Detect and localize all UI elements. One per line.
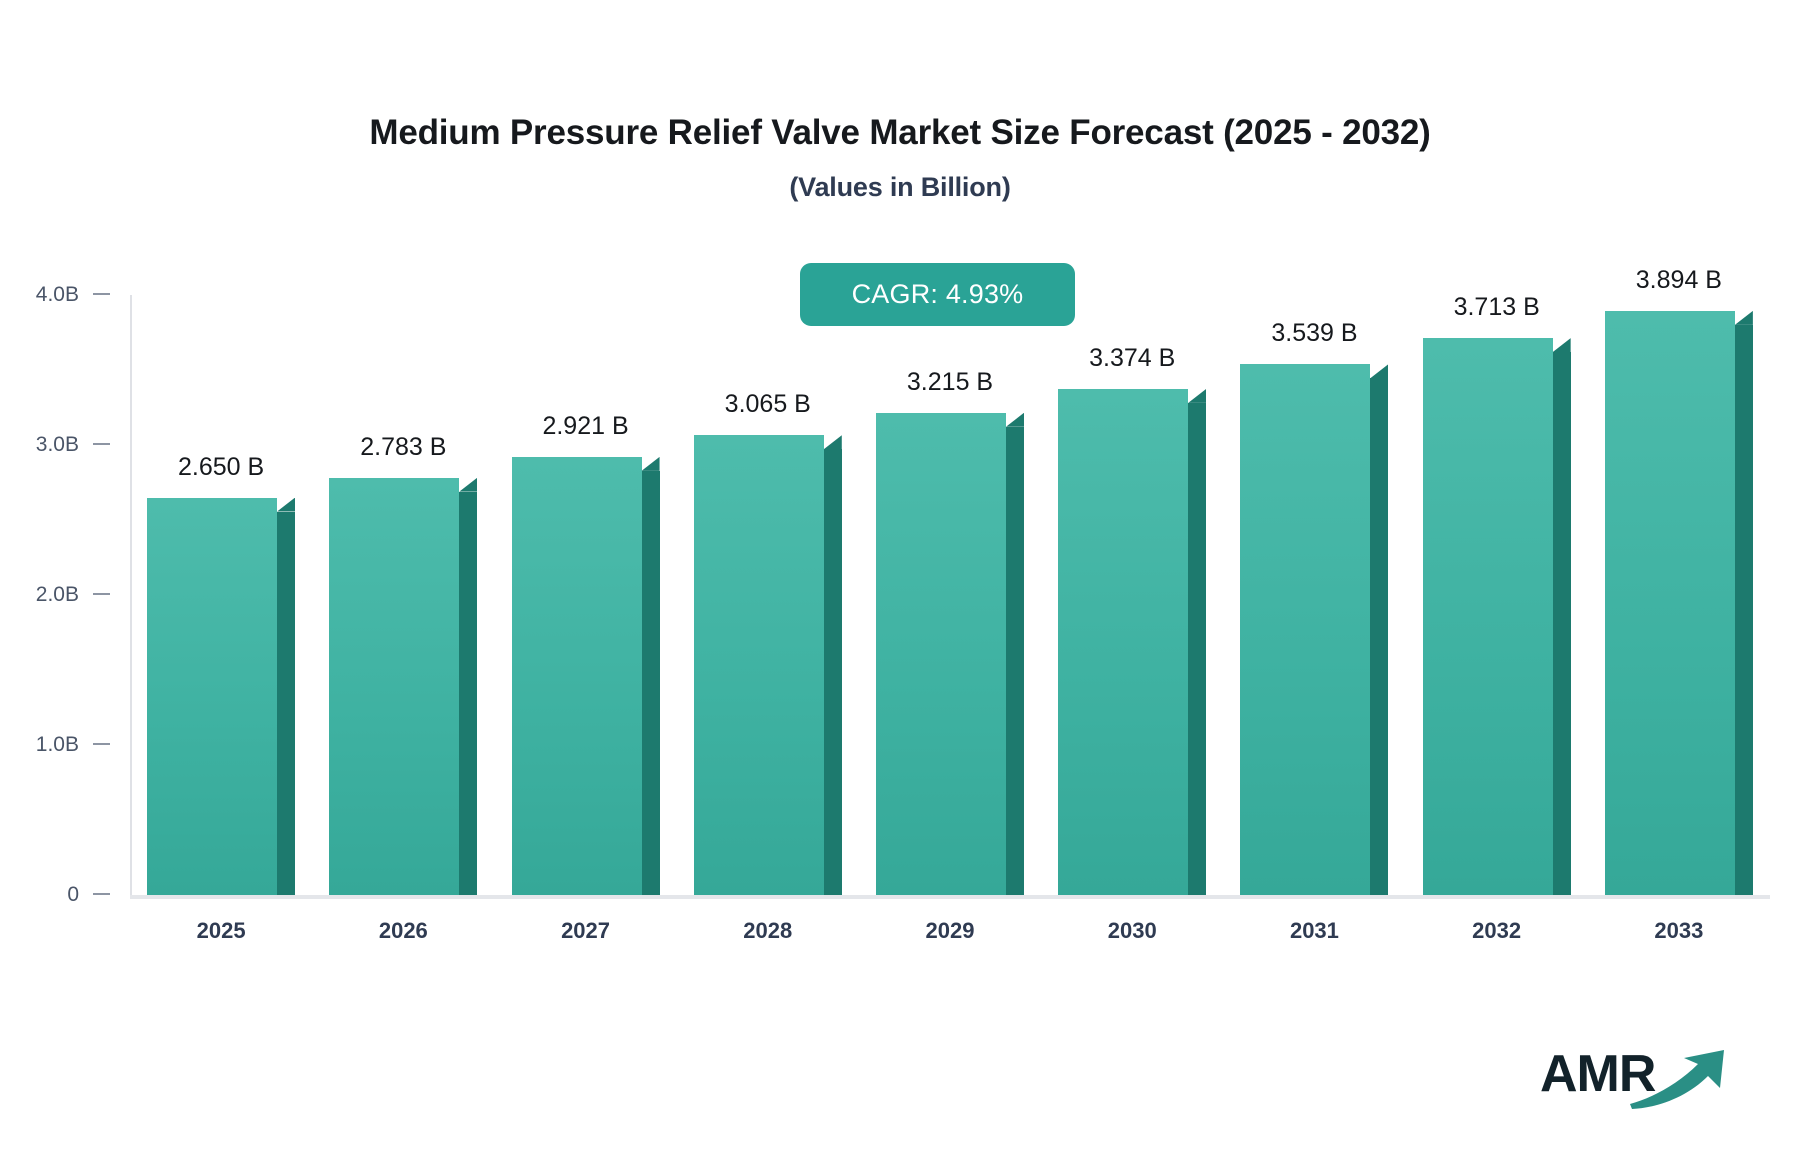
bar[interactable] xyxy=(1240,364,1388,895)
bar-value-label: 3.713 B xyxy=(1423,293,1571,322)
bar-side-face xyxy=(1735,325,1753,895)
bar[interactable] xyxy=(876,413,1024,895)
y-axis-tick-mark xyxy=(93,893,110,895)
page-title: Medium Pressure Relief Valve Market Size… xyxy=(0,112,1800,154)
y-axis-tick-mark xyxy=(93,743,110,745)
chart-page: Medium Pressure Relief Valve Market Size… xyxy=(0,0,1800,1156)
bar-side-face xyxy=(1006,427,1024,895)
x-axis-tick-label: 2028 xyxy=(743,918,792,944)
bar[interactable] xyxy=(1058,389,1206,895)
bar-slot: 2.650 B xyxy=(147,295,295,895)
bar-series: 2.650 B2.783 B2.921 B3.065 B3.215 B3.374… xyxy=(130,295,1770,895)
bar-slot: 2.783 B xyxy=(329,295,477,895)
bar-top-face xyxy=(824,435,842,449)
bar-top-face xyxy=(642,457,660,471)
y-axis-tick: 1.0B xyxy=(0,733,110,757)
bar[interactable] xyxy=(329,478,477,895)
bar[interactable] xyxy=(147,498,295,896)
x-axis-tick-label: 2031 xyxy=(1290,918,1339,944)
bar-front-face xyxy=(1058,389,1188,895)
y-axis-tick: 3.0B xyxy=(0,433,110,457)
bar-front-face xyxy=(147,498,277,896)
bar[interactable] xyxy=(694,435,842,895)
chart-subtitle: (Values in Billion) xyxy=(0,172,1800,203)
bar-slot: 3.713 B xyxy=(1423,295,1571,895)
bar-front-face xyxy=(329,478,459,895)
x-axis-tick-label: 2029 xyxy=(926,918,975,944)
bar-front-face xyxy=(694,435,824,895)
bar-side-face xyxy=(824,449,842,895)
title-block: Medium Pressure Relief Valve Market Size… xyxy=(0,112,1800,203)
y-axis-tick-mark xyxy=(93,443,110,445)
bar[interactable] xyxy=(1605,311,1753,895)
x-axis-tick-label: 2032 xyxy=(1472,918,1521,944)
bar[interactable] xyxy=(1423,338,1571,895)
growth-arrow-icon xyxy=(1628,1048,1738,1110)
y-axis-tick-label: 3.0B xyxy=(36,433,79,456)
bar-top-face xyxy=(1006,413,1024,427)
bar-top-face xyxy=(1188,389,1206,403)
bar-side-face xyxy=(1553,352,1571,895)
bar-side-face xyxy=(1188,403,1206,895)
bar-slot: 3.215 B xyxy=(876,295,1024,895)
bar-slot: 2.921 B xyxy=(512,295,660,895)
y-axis-tick: 0 xyxy=(0,883,110,907)
y-axis-tick-label: 2.0B xyxy=(36,583,79,606)
amr-logo: AMR xyxy=(1540,1040,1740,1110)
bar-value-label: 3.215 B xyxy=(876,368,1024,397)
y-axis-tick-label: 1.0B xyxy=(36,733,79,756)
x-axis-tick-label: 2033 xyxy=(1654,918,1703,944)
x-axis-tick-label: 2026 xyxy=(379,918,428,944)
bar-slot: 3.374 B xyxy=(1058,295,1206,895)
y-axis-tick: 2.0B xyxy=(0,583,110,607)
plot-area: 2.650 B2.783 B2.921 B3.065 B3.215 B3.374… xyxy=(130,295,1770,895)
bar-value-label: 3.374 B xyxy=(1058,344,1206,373)
bar-side-face xyxy=(642,471,660,895)
y-axis-tick-label: 4.0B xyxy=(36,283,79,306)
bar-slot: 3.065 B xyxy=(694,295,842,895)
bar-side-face xyxy=(1370,378,1388,895)
x-axis-tick-label: 2030 xyxy=(1108,918,1157,944)
bar-value-label: 3.539 B xyxy=(1240,319,1388,348)
x-axis-tick-label: 2027 xyxy=(561,918,610,944)
x-axis-tick-label: 2025 xyxy=(197,918,246,944)
bar-value-label: 3.065 B xyxy=(694,390,842,419)
bar-front-face xyxy=(876,413,1006,895)
y-axis-tick-mark xyxy=(93,593,110,595)
bar-front-face xyxy=(512,457,642,895)
y-axis-tick-label: 0 xyxy=(67,883,79,906)
bar-front-face xyxy=(1423,338,1553,895)
bar-top-face xyxy=(459,478,477,492)
bar-slot: 3.539 B xyxy=(1240,295,1388,895)
bar-top-face xyxy=(277,498,295,512)
bar-value-label: 2.783 B xyxy=(329,433,477,462)
bar-top-face xyxy=(1735,311,1753,325)
y-axis-tick: 4.0B xyxy=(0,283,110,307)
bar-side-face xyxy=(459,492,477,895)
bar-side-face xyxy=(277,512,295,896)
bar-top-face xyxy=(1553,338,1571,352)
bar-value-label: 3.894 B xyxy=(1605,266,1753,295)
bar-value-label: 2.921 B xyxy=(512,412,660,441)
x-axis-baseline xyxy=(130,895,1770,899)
bar-front-face xyxy=(1605,311,1735,895)
bar-value-label: 2.650 B xyxy=(147,453,295,482)
bar-top-face xyxy=(1370,364,1388,378)
y-axis-tick-mark xyxy=(93,293,110,295)
bar-slot: 3.894 B xyxy=(1605,295,1753,895)
bar-front-face xyxy=(1240,364,1370,895)
bar[interactable] xyxy=(512,457,660,895)
